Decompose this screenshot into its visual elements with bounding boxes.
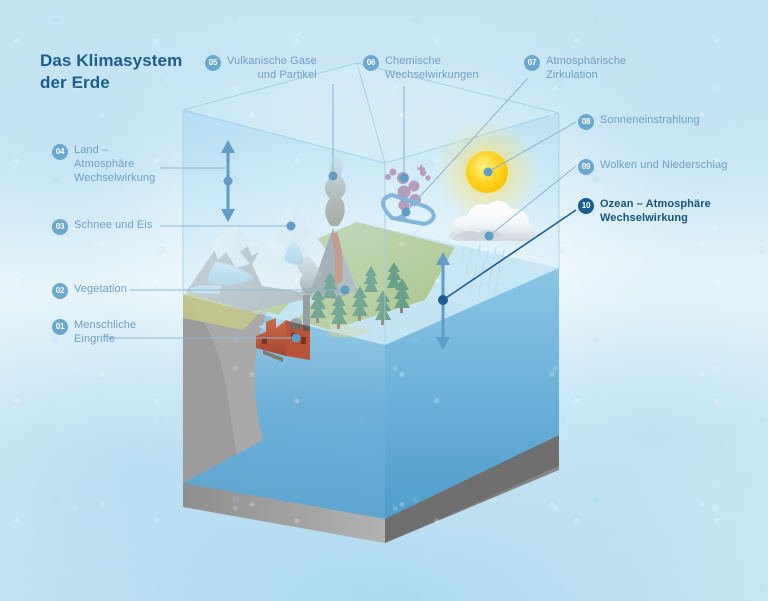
- label-text-03: Schnee und Eis: [74, 218, 152, 232]
- label-01[interactable]: 01 Menschliche Eingriffe: [52, 318, 136, 346]
- badge-10: 10: [578, 198, 594, 214]
- badge-02: 02: [52, 283, 68, 299]
- factory-window: [301, 337, 306, 344]
- label-text-09: Wolken und Niederschlag: [600, 158, 727, 172]
- label-02[interactable]: 02 Vegetation: [52, 282, 127, 299]
- label-07[interactable]: 07 Atmosphärische Zirkulation: [524, 54, 626, 82]
- badge-04: 04: [52, 144, 68, 160]
- climate-system-infographic: Das Klimasystem der Erde 04 Land – Atmos…: [0, 0, 768, 601]
- factory-window: [262, 338, 267, 344]
- label-04[interactable]: 04 Land – Atmosphäre Wechselwirkung: [52, 143, 155, 185]
- label-03[interactable]: 03 Schnee und Eis: [52, 218, 152, 235]
- label-text-07: Atmosphärische Zirkulation: [546, 54, 626, 82]
- badge-09: 09: [578, 159, 594, 175]
- label-text-10: Ozean – Atmosphäre Wechselwirkung: [600, 197, 711, 225]
- label-text-06: Chemische Wechselwirkungen: [385, 54, 479, 82]
- label-text-02: Vegetation: [74, 282, 127, 296]
- label-08[interactable]: 08 Sonneneinstrahlung: [578, 113, 700, 130]
- land-atmosphere-node: [224, 177, 233, 186]
- label-text-08: Sonneneinstrahlung: [600, 113, 700, 127]
- node-06: [400, 174, 409, 183]
- label-text-04: Land – Atmosphäre Wechselwirkung: [74, 143, 155, 185]
- label-text-05: Vulkanische Gase und Partikel: [227, 54, 317, 82]
- badge-01: 01: [52, 319, 68, 335]
- node-07: [402, 208, 411, 217]
- node-05: [329, 172, 338, 181]
- badge-08: 08: [578, 114, 594, 130]
- node-09: [485, 232, 494, 241]
- page-title: Das Klimasystem der Erde: [40, 50, 182, 94]
- badge-05: 05: [205, 55, 221, 71]
- label-10[interactable]: 10 Ozean – Atmosphäre Wechselwirkung: [578, 197, 711, 225]
- node-01: [292, 334, 301, 343]
- label-05[interactable]: 05 Vulkanische Gase und Partikel: [205, 54, 317, 82]
- node-03: [287, 222, 296, 231]
- badge-03: 03: [52, 219, 68, 235]
- node-02: [341, 286, 350, 295]
- node-08: [484, 168, 493, 177]
- badge-07: 07: [524, 55, 540, 71]
- badge-06: 06: [363, 55, 379, 71]
- label-09[interactable]: 09 Wolken und Niederschlag: [578, 158, 727, 175]
- label-text-01: Menschliche Eingriffe: [74, 318, 136, 346]
- label-06[interactable]: 06 Chemische Wechselwirkungen: [363, 54, 479, 82]
